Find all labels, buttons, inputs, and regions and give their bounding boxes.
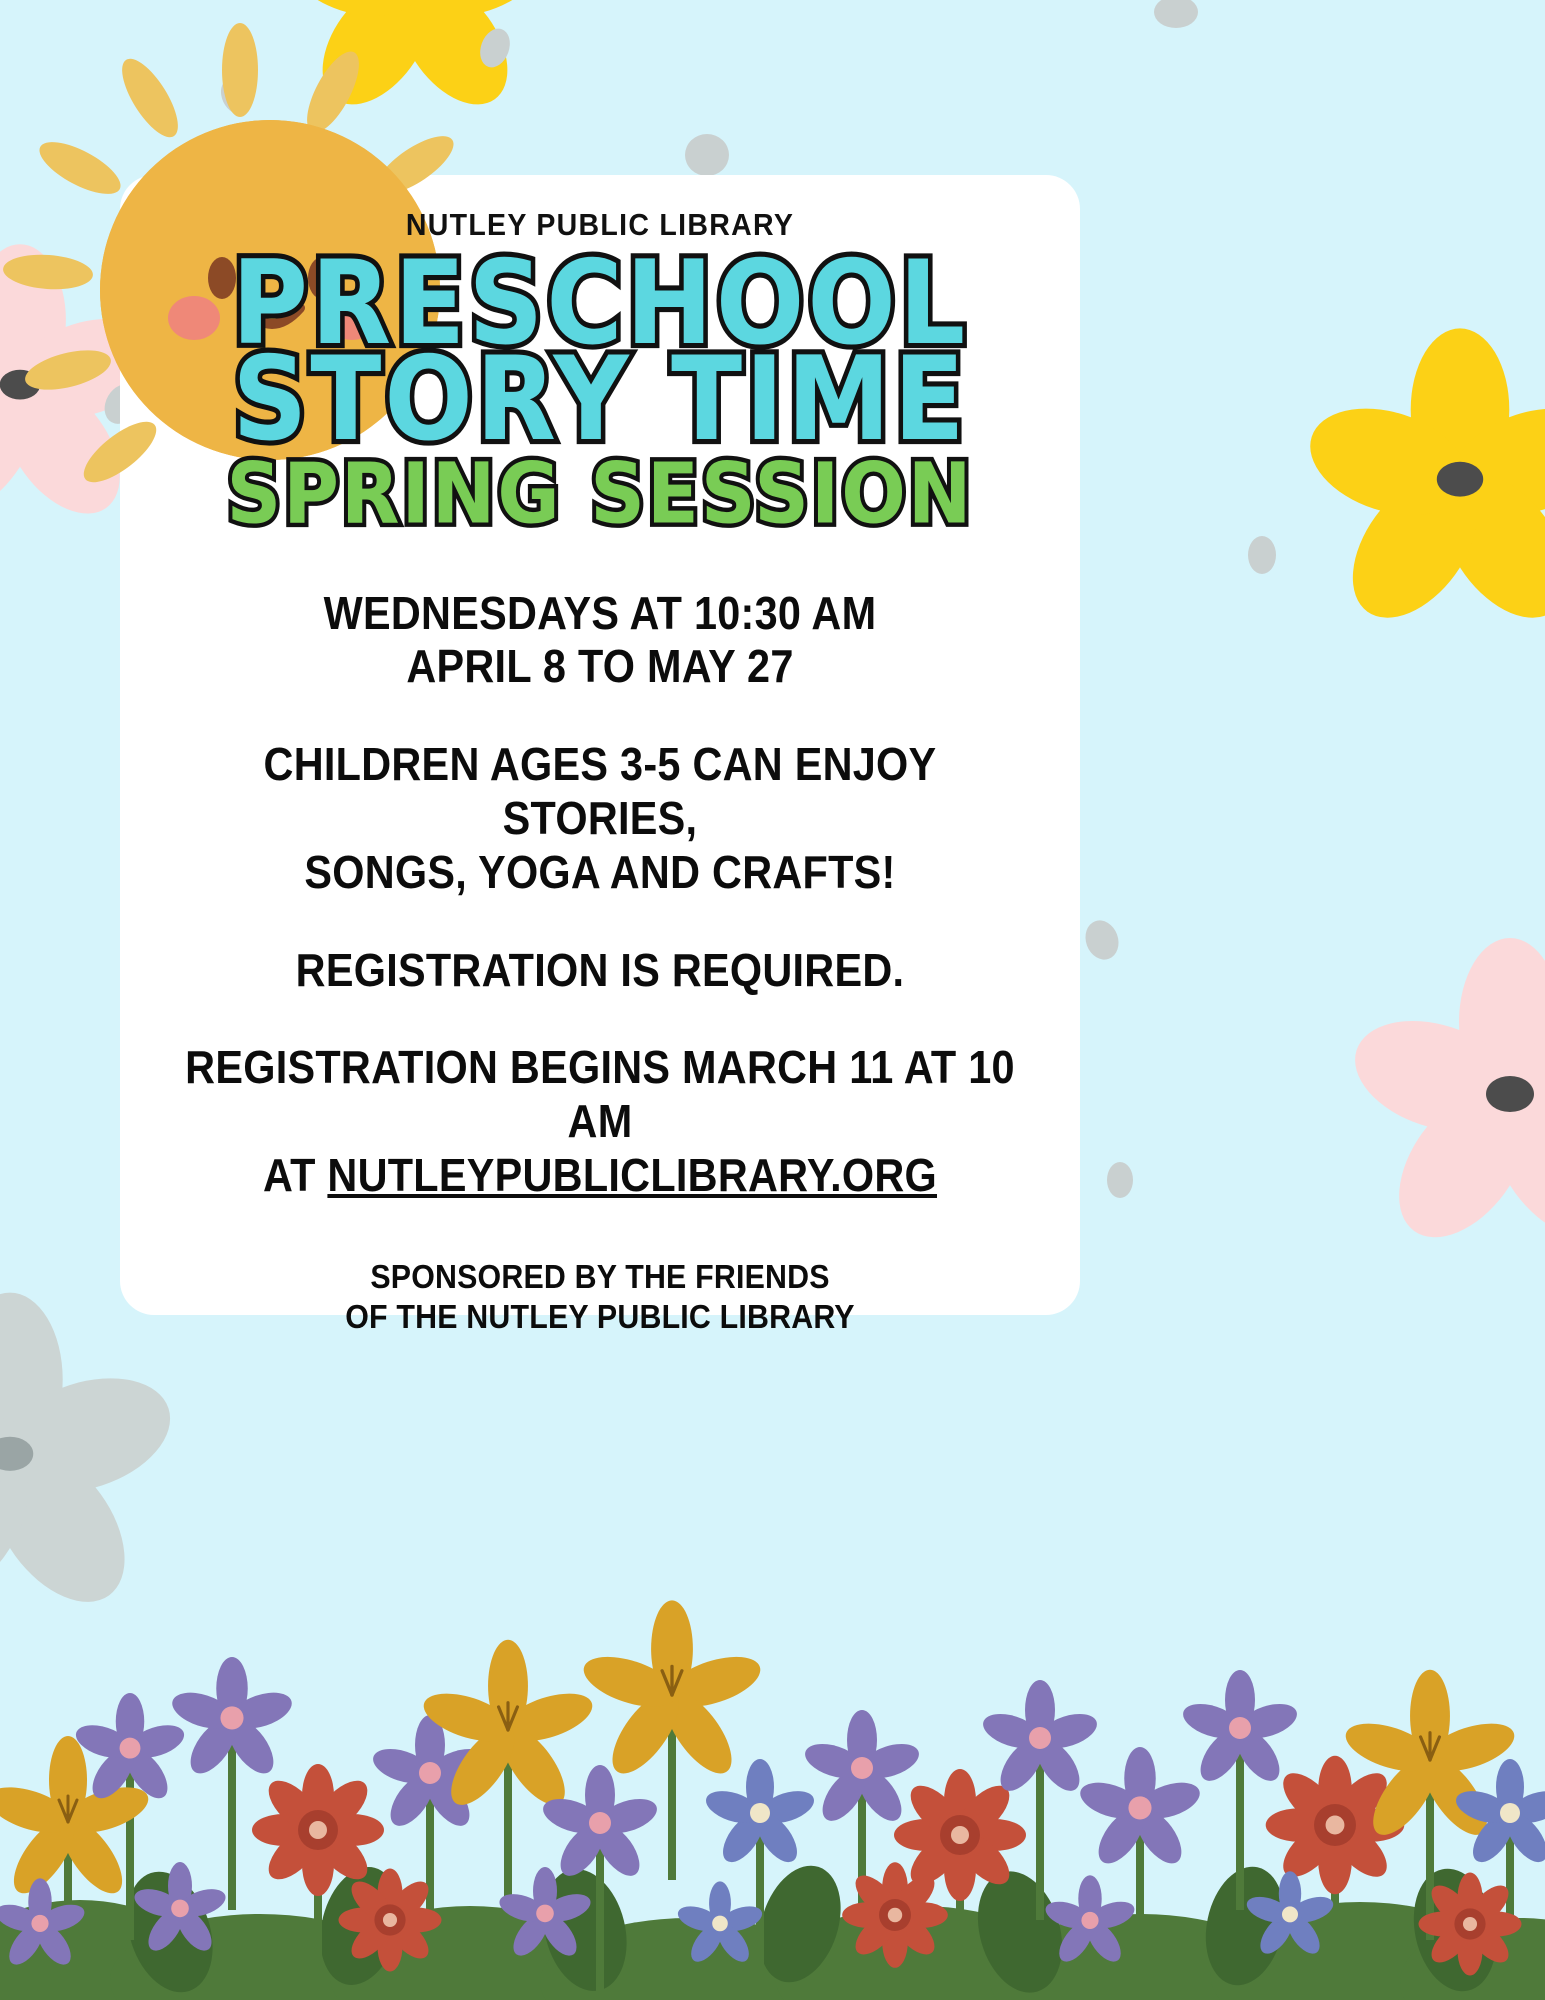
flower-left-grey-icon (0, 1293, 185, 1627)
flower-right-pink-icon (1341, 938, 1545, 1261)
registration-open-line: REGISTRATION BEGINS MARCH 11 AT 10 AM (168, 1041, 1032, 1149)
title-line-2: STORY TIME (110, 346, 1089, 453)
registration-required-notice: REGISTRATION IS REQUIRED. (168, 944, 1032, 998)
flower-top-yellow-icon (274, 0, 556, 124)
sponsor-block: SPONSORED BY THE FRIENDS OF THE NUTLEY P… (158, 1257, 1041, 1338)
body-block: WEDNESDAYS AT 10:30 AM APRIL 8 TO MAY 27… (120, 587, 1080, 1338)
flower-right-yellow-icon (1296, 328, 1545, 640)
registration-at-prefix: AT (263, 1149, 327, 1201)
spacer-2 (120, 900, 1080, 944)
schedule-line-1: WEDNESDAYS AT 10:30 AM (168, 587, 1032, 641)
spacer-3 (120, 997, 1080, 1041)
library-website-link[interactable]: NUTLEYPUBLICLIBRARY.ORG (327, 1149, 937, 1201)
registration-url-line: AT NUTLEYPUBLICLIBRARY.ORG (168, 1149, 1032, 1203)
spacer-1 (120, 694, 1080, 738)
poster-content: NUTLEY PUBLIC LIBRARY PRESCHOOL STORY TI… (120, 175, 1080, 1315)
sponsor-line-1: SPONSORED BY THE FRIENDS (158, 1257, 1041, 1297)
subtitle-spring-session: SPRING SESSION (120, 455, 1080, 532)
poster-canvas: NUTLEY PUBLIC LIBRARY PRESCHOOL STORY TI… (0, 0, 1545, 2000)
title-block: PRESCHOOL STORY TIME SPRING SESSION (120, 257, 1080, 529)
description-line-1: CHILDREN AGES 3-5 CAN ENJOY STORIES, (168, 738, 1032, 846)
organization-name: NUTLEY PUBLIC LIBRARY (158, 175, 1041, 243)
sponsor-line-2: OF THE NUTLEY PUBLIC LIBRARY (158, 1297, 1041, 1337)
description-line-2: SONGS, YOGA AND CRAFTS! (168, 846, 1032, 900)
schedule-line-2: APRIL 8 TO MAY 27 (168, 640, 1032, 694)
